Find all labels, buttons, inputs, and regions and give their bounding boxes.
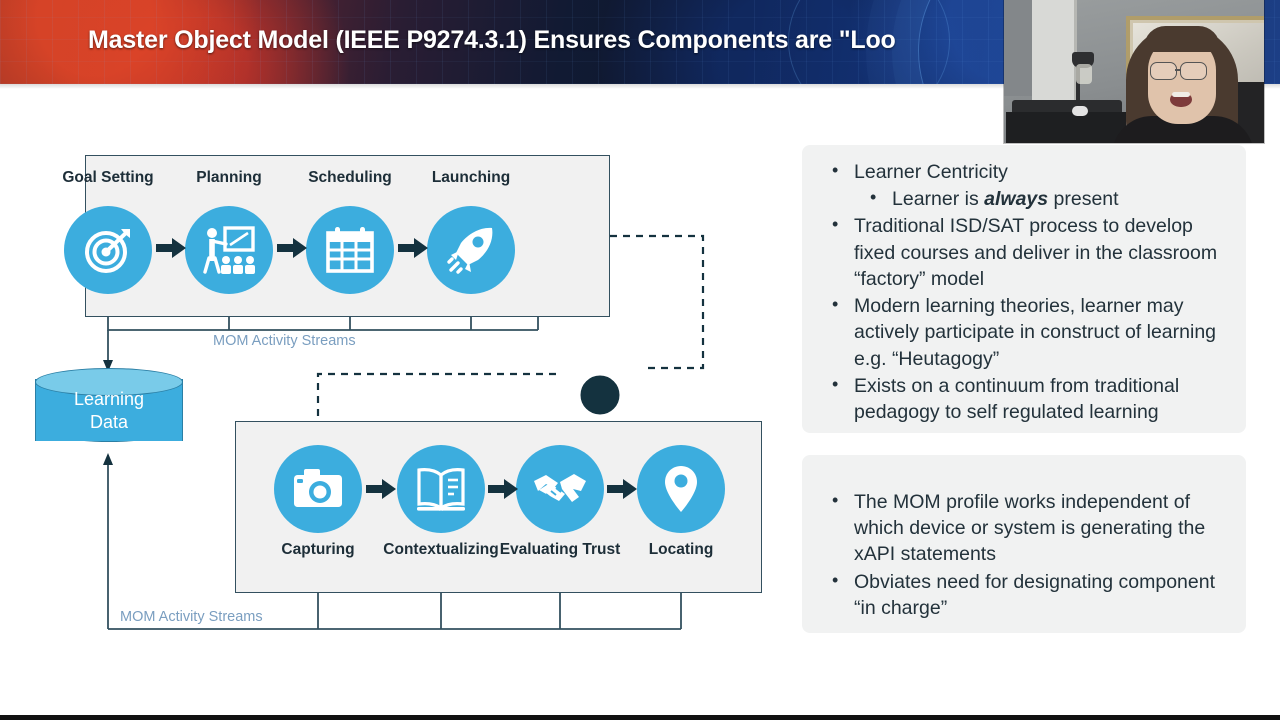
datastore-line-1: Learning bbox=[35, 388, 183, 411]
learning-data-store: Learning Data bbox=[35, 368, 183, 452]
calendar-icon bbox=[306, 206, 394, 294]
book-icon bbox=[397, 445, 485, 533]
step-label-goal-setting: Goal Setting bbox=[38, 169, 178, 187]
mom-diagram: Goal Setting Planning Scheduling Launchi… bbox=[0, 84, 800, 644]
step-label-evaluating-trust: Evaluating Trust bbox=[490, 541, 630, 559]
step-label-capturing: Capturing bbox=[248, 541, 388, 559]
bullet-item: Modern learning theories, learner may ac… bbox=[824, 293, 1228, 372]
footer-rule bbox=[0, 715, 1280, 720]
presenter-icon bbox=[185, 206, 273, 294]
presentation-slide: Master Object Model (IEEE P9274.3.1) Ens… bbox=[0, 0, 1280, 720]
flow-arrow-3 bbox=[398, 236, 428, 260]
datastore-line-2: Data bbox=[35, 411, 183, 434]
target-icon bbox=[64, 206, 152, 294]
mom-profile-panel: The MOM profile works independent of whi… bbox=[802, 455, 1246, 633]
flow-arrow-2 bbox=[277, 236, 307, 260]
step-label-locating: Locating bbox=[611, 541, 751, 559]
learner-centricity-panel: Learner CentricityLearner is always pres… bbox=[802, 145, 1246, 433]
flow-arrow-6 bbox=[607, 477, 637, 501]
handshake-icon bbox=[516, 445, 604, 533]
flow-arrow-5 bbox=[488, 477, 518, 501]
presenter-webcam-overlay[interactable] bbox=[1004, 0, 1264, 143]
bullet-item: Learner Centricity bbox=[824, 159, 1228, 185]
bullet-item: Traditional ISD/SAT process to develop f… bbox=[824, 213, 1228, 292]
camera-icon bbox=[274, 445, 362, 533]
step-label-planning: Planning bbox=[159, 169, 299, 187]
bullet-list: Learner CentricityLearner is always pres… bbox=[824, 159, 1228, 425]
bullet-item: Exists on a continuum from traditional p… bbox=[824, 373, 1228, 425]
step-label-launching: Launching bbox=[401, 169, 541, 187]
arrow-from-streams-to-datastore bbox=[103, 453, 113, 465]
flow-arrow-4 bbox=[366, 477, 396, 501]
rocket-icon bbox=[427, 206, 515, 294]
bullet-list: The MOM profile works independent of whi… bbox=[824, 469, 1228, 621]
step-label-scheduling: Scheduling bbox=[280, 169, 420, 187]
mom-activity-streams-label-top: MOM Activity Streams bbox=[213, 333, 356, 349]
map-pin-icon bbox=[637, 445, 725, 533]
bullet-item: Obviates need for designating component … bbox=[824, 569, 1228, 621]
bullet-item: The MOM profile works independent of whi… bbox=[824, 489, 1228, 568]
flow-arrow-1 bbox=[156, 236, 186, 260]
bullet-item: Learner is always present bbox=[824, 186, 1228, 212]
mom-activity-streams-label-bottom: MOM Activity Streams bbox=[120, 609, 263, 625]
footer-bar: @IITSECNTSATodayIITSECIITSECIITSEC 10 '2… bbox=[0, 662, 1280, 720]
